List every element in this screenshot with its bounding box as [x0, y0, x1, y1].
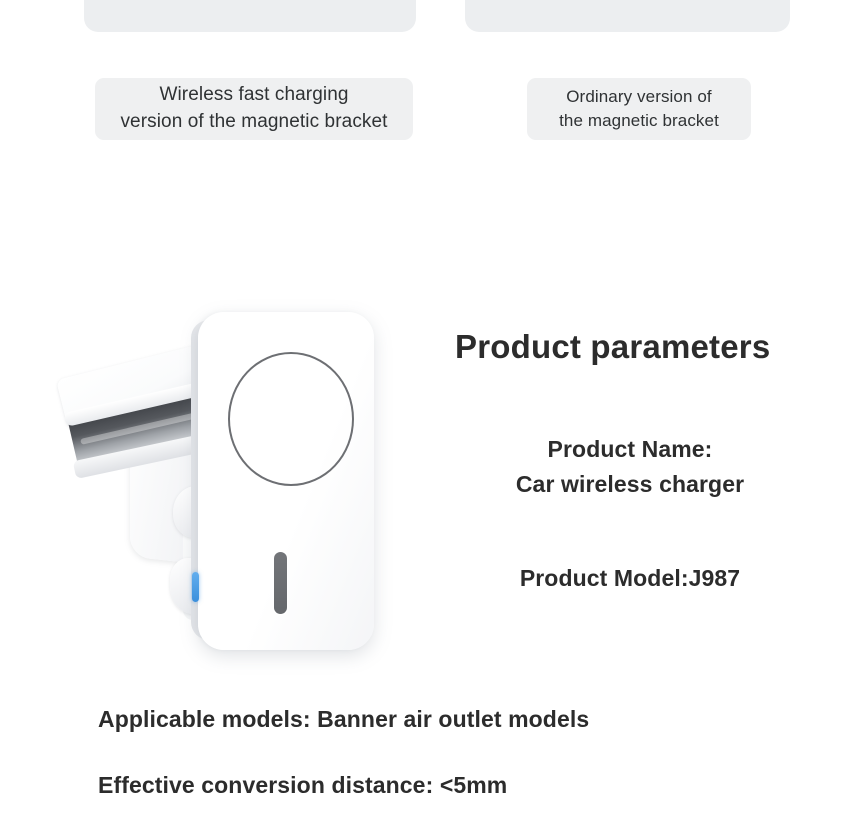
caption-pill-ordinary-version: Ordinary version of the magnetic bracket: [527, 78, 751, 140]
product-name-label: Product Name:: [440, 432, 820, 467]
product-name-block: Product Name: Car wireless charger: [440, 432, 820, 502]
caption-right-line2: the magnetic bracket: [553, 109, 725, 133]
spec-conversion-distance: Effective conversion distance: <5mm: [98, 772, 507, 799]
caption-pill-wireless-fast-charging: Wireless fast charging version of the ma…: [95, 78, 413, 140]
magnetic-ring: [228, 352, 354, 486]
led-indicator: [192, 572, 199, 602]
caption-right-line1: Ordinary version of: [553, 85, 725, 109]
caption-left-line1: Wireless fast charging: [114, 82, 393, 109]
charger-front-face: [198, 312, 374, 650]
product-model: Product Model:J987: [440, 565, 820, 592]
product-image: [55, 300, 405, 690]
caption-left-line2: version of the magnetic bracket: [114, 109, 393, 136]
top-image-panel-right: [465, 0, 790, 32]
charger-slot-indicator: [274, 552, 287, 614]
product-parameters-heading: Product parameters: [455, 328, 815, 366]
top-image-panel-left: [84, 0, 416, 32]
product-name-value: Car wireless charger: [440, 467, 820, 502]
product-detail-page: Wireless fast charging version of the ma…: [0, 0, 850, 836]
spec-applicable-models: Applicable models: Banner air outlet mod…: [98, 706, 589, 733]
